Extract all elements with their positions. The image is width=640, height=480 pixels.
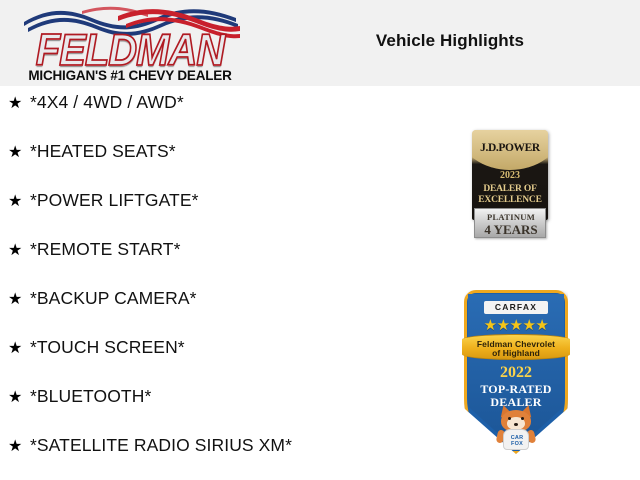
list-item: ★ *4X4 / 4WD / AWD*	[8, 92, 428, 141]
car-fox-mascot-icon: CAR FOX	[496, 408, 536, 452]
list-item-label: *REMOTE START*	[30, 239, 181, 260]
carfax-dealer-name-line2: of Highland	[462, 348, 570, 358]
carfax-dealer-banner: Feldman Chevrolet of Highland	[462, 334, 570, 360]
jd-power-award-line1: DEALER OF	[472, 184, 548, 194]
list-item-label: *HEATED SEATS*	[30, 141, 176, 162]
dealer-logo-tagline: MICHIGAN'S #1 CHEVY DEALER	[14, 68, 246, 83]
carfax-year: 2022	[464, 364, 568, 382]
page-title: Vehicle Highlights	[300, 31, 600, 51]
star-bullet-icon: ★	[8, 194, 30, 210]
fox-shirt-line2: FOX	[504, 441, 530, 447]
list-item: ★ *REMOTE START*	[8, 239, 428, 288]
list-item-label: *BLUETOOTH*	[30, 386, 151, 407]
dealer-logo: FELDMAN MICHIGAN'S #1 CHEVY DEALER	[14, 6, 246, 82]
star-bullet-icon: ★	[8, 292, 30, 308]
jd-power-brand: J.D.POWER	[472, 142, 548, 154]
carfax-star-rating: ★★★★★	[464, 316, 568, 334]
jd-power-year: 2023	[472, 170, 548, 181]
list-item: ★ *HEATED SEATS*	[8, 141, 428, 190]
list-item: ★ *POWER LIFTGATE*	[8, 190, 428, 239]
jd-power-plaque: J.D.POWER 2023 DEALER OF EXCELLENCE	[472, 130, 548, 220]
star-bullet-icon: ★	[8, 439, 30, 455]
fox-nose	[514, 423, 518, 426]
fox-eye-left	[508, 417, 511, 420]
list-item-label: *4X4 / 4WD / AWD*	[30, 92, 184, 113]
jd-power-duration: 4 YEARS	[475, 222, 547, 238]
dealer-logo-wordmark: FELDMAN	[14, 28, 246, 73]
jd-power-tier: PLATINUM	[475, 212, 547, 222]
vehicle-highlights-page: FELDMAN MICHIGAN'S #1 CHEVY DEALER Vehic…	[0, 0, 640, 480]
list-item-label: *POWER LIFTGATE*	[30, 190, 199, 211]
list-item-label: *BACKUP CAMERA*	[30, 288, 197, 309]
jd-power-award-line2: EXCELLENCE	[472, 195, 548, 205]
star-bullet-icon: ★	[8, 145, 30, 161]
fox-shirt: CAR FOX	[503, 429, 529, 450]
list-item: ★ *SATELLITE RADIO SIRIUS XM*	[8, 435, 428, 480]
list-item-label: *SATELLITE RADIO SIRIUS XM*	[30, 435, 292, 456]
carfax-logo: CARFAX	[484, 301, 548, 314]
star-bullet-icon: ★	[8, 390, 30, 406]
star-bullet-icon: ★	[8, 96, 30, 112]
jd-power-badge: J.D.POWER 2023 DEALER OF EXCELLENCE PLAT…	[472, 130, 548, 238]
jd-power-ribbon: PLATINUM 4 YEARS	[474, 208, 546, 238]
star-bullet-icon: ★	[8, 243, 30, 259]
vehicle-highlights-list: ★ *4X4 / 4WD / AWD* ★ *HEATED SEATS* ★ *…	[8, 92, 428, 480]
list-item: ★ *BACKUP CAMERA*	[8, 288, 428, 337]
star-bullet-icon: ★	[8, 341, 30, 357]
list-item-label: *TOUCH SCREEN*	[30, 337, 185, 358]
list-item: ★ *TOUCH SCREEN*	[8, 337, 428, 386]
carfax-top-rated-dealer-badge: CARFAX ★★★★★ Feldman Chevrolet of Highla…	[464, 290, 568, 454]
fox-eye-right	[521, 417, 524, 420]
list-item: ★ *BLUETOOTH*	[8, 386, 428, 435]
